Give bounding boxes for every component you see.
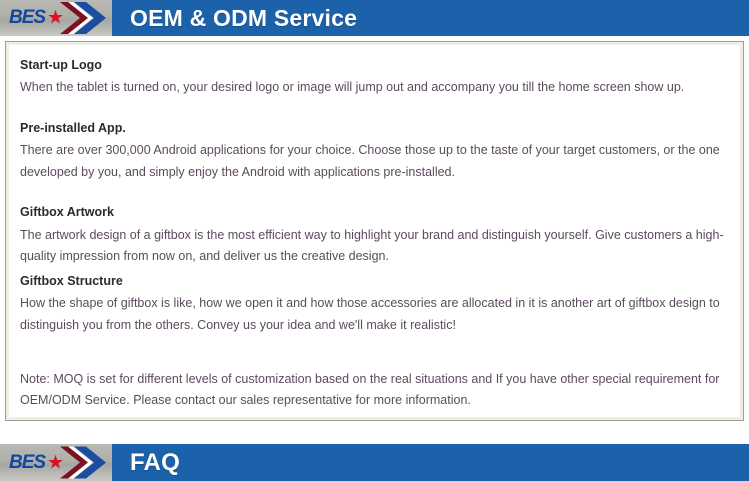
block-giftbox-structure: Giftbox Structure How the shape of giftb… (20, 272, 727, 336)
section-title-faq: FAQ (112, 444, 749, 481)
section-title-oem-odm: OEM & ODM Service (112, 0, 749, 36)
content-panel: Start-up Logo When the tablet is turned … (6, 42, 743, 420)
section-header-faq: BES ★ FAQ (0, 444, 749, 481)
block-pre-installed-app: Pre-installed App. There are over 300,00… (20, 119, 727, 183)
block-heading: Start-up Logo (20, 56, 727, 75)
page-root: BES ★ OEM & ODM Service Start-up Logo Wh… (0, 0, 749, 462)
block-heading: Giftbox Artwork (20, 203, 727, 222)
block-body: The artwork design of a giftbox is the m… (20, 225, 727, 268)
double-chevron-icon (60, 444, 112, 481)
moq-note: Note: MOQ is set for different levels of… (20, 369, 727, 412)
block-heading: Giftbox Structure (20, 272, 727, 291)
section-header-oem-odm: BES ★ OEM & ODM Service (0, 0, 749, 36)
block-body: How the shape of giftbox is like, how we… (20, 293, 727, 336)
block-giftbox-artwork: Giftbox Artwork The artwork design of a … (20, 203, 727, 267)
brand-logo[interactable]: BES ★ (0, 0, 112, 36)
section-gap (0, 420, 749, 444)
brand-wordmark: BES (9, 8, 45, 27)
spacer (20, 336, 727, 356)
brand-wordmark: BES (9, 453, 45, 472)
block-body: When the tablet is turned on, your desir… (20, 77, 727, 99)
brand-logo[interactable]: BES ★ (0, 444, 112, 481)
block-body: There are over 300,000 Android applicati… (20, 140, 727, 183)
spacer (20, 99, 727, 119)
content-inner: Start-up Logo When the tablet is turned … (9, 45, 740, 417)
block-heading: Pre-installed App. (20, 119, 727, 138)
block-start-up-logo: Start-up Logo When the tablet is turned … (20, 56, 727, 99)
double-chevron-icon (60, 0, 112, 36)
spacer (20, 183, 727, 203)
